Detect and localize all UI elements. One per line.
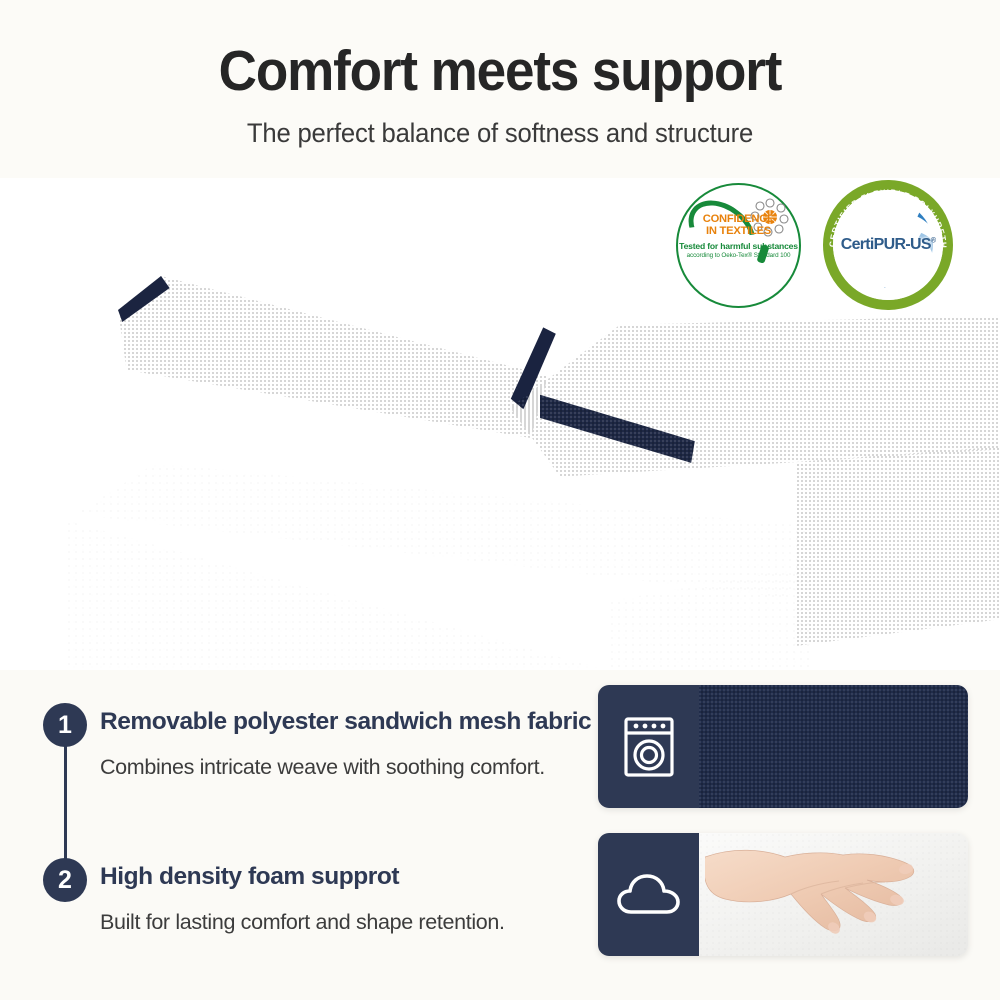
certipur-us-badge: CertiPUR-US® CONTAINS CERTIFIED FLEXIBLE…	[823, 180, 953, 310]
hand-illustration	[705, 843, 955, 953]
feature-card-washable-mesh	[598, 685, 968, 808]
hand-on-foam-photo	[699, 833, 968, 956]
certipur-arc-text: CONTAINS CERTIFIED FLEXIBLE POLYURETHANE…	[823, 180, 953, 310]
foam-core-right-face	[610, 566, 840, 670]
certipur-arc-top-text: CONTAINS CERTIFIED FLEXIBLE POLYURETHANE…	[823, 180, 948, 249]
washing-machine-icon-panel	[598, 685, 699, 808]
cloud-icon	[617, 872, 681, 918]
page-subtitle: The perfect balance of softness and stru…	[25, 118, 975, 149]
feature-number-badge-2: 2	[43, 858, 87, 902]
washing-machine-icon	[623, 716, 675, 778]
feature-description-1: Combines intricate weave with soothing c…	[100, 755, 570, 780]
feature-card-high-density-foam	[598, 833, 968, 956]
mattress-cover-lifted-flap	[118, 266, 548, 466]
feature-title-1: Removable polyester sandwich mesh fabric	[100, 708, 560, 736]
certipur-arc-bottom-text: WWW.CERTIPUR.US	[846, 268, 929, 296]
cloud-icon-panel	[598, 833, 699, 956]
page-title: Comfort meets support	[35, 42, 965, 102]
feature-title-2: High density foam supprot	[100, 863, 560, 891]
feature-description-2: Built for lasting comfort and shape rete…	[100, 910, 570, 935]
navy-mesh-fabric-photo	[699, 685, 968, 808]
feature-number-badge-1: 1	[43, 703, 87, 747]
